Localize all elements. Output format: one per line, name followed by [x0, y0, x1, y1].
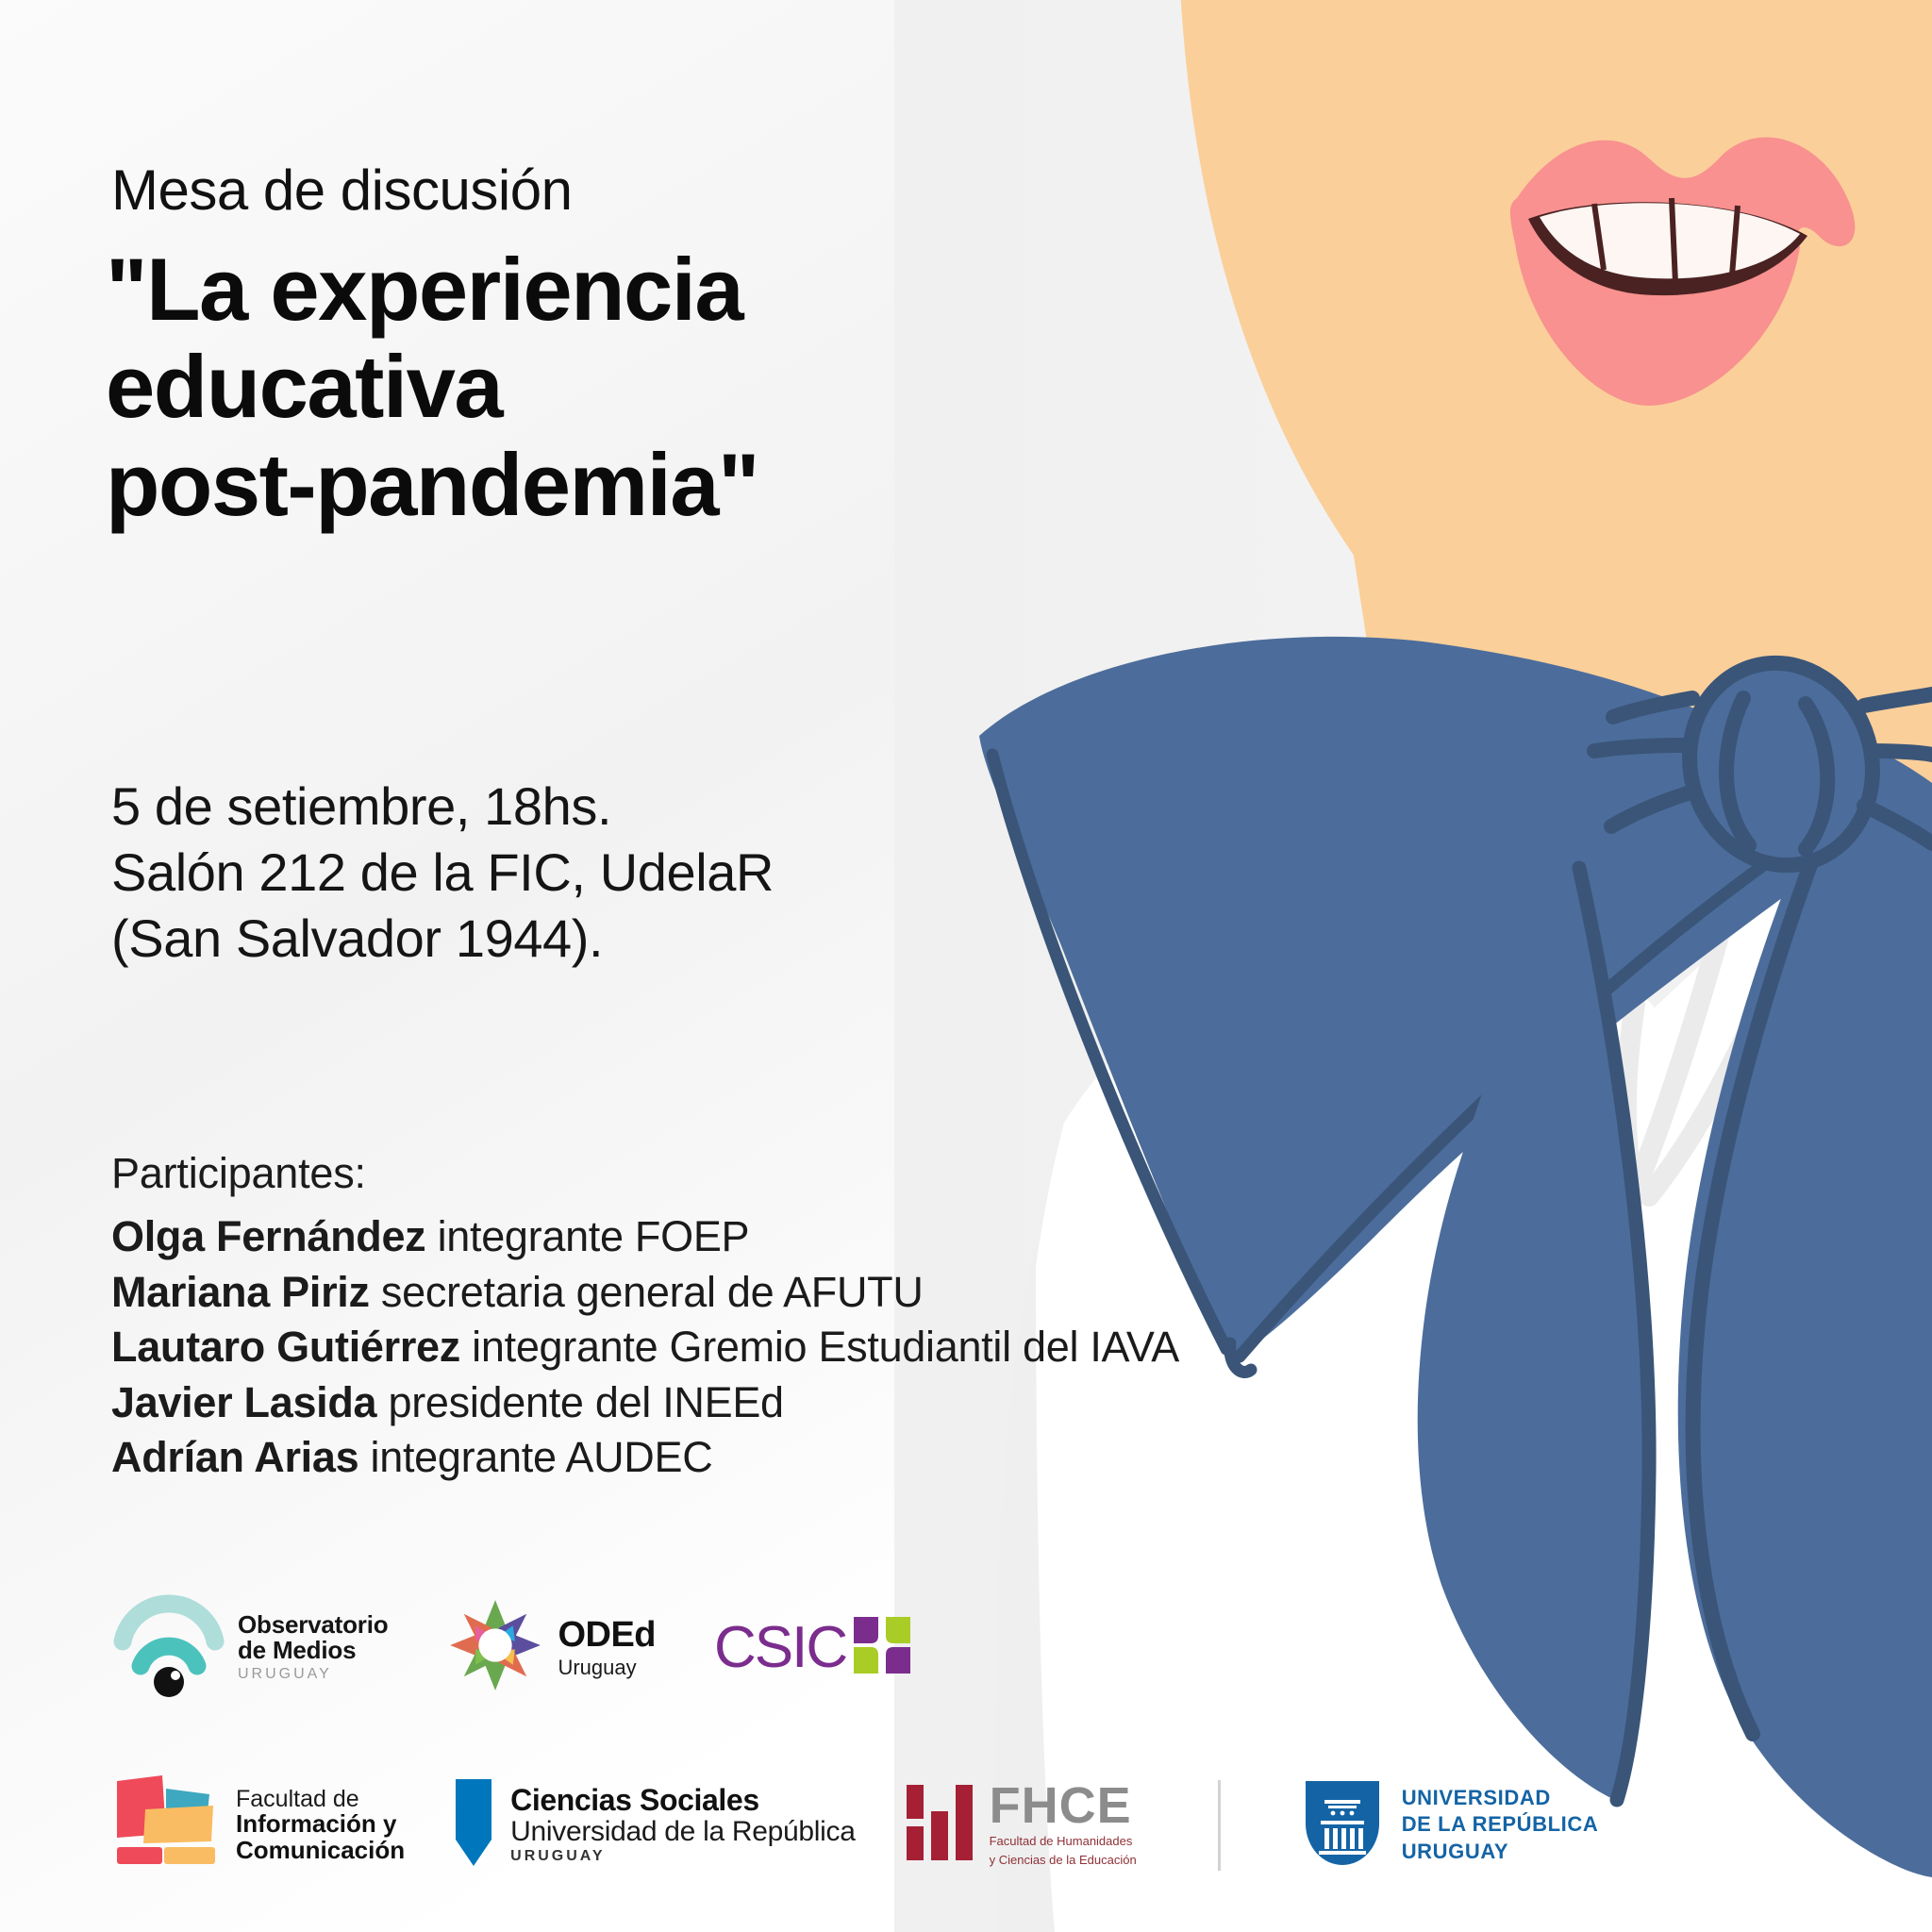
headline-line-2: educativa [106, 338, 955, 435]
oded-line-1: ODEd [558, 1617, 656, 1655]
logo-fic: Facultad de Información y Comunicación [111, 1774, 405, 1876]
fic-books-icon [111, 1774, 223, 1876]
observatorio-wifi-eye-icon [113, 1592, 225, 1703]
logo-fhce-text: FHCE Facultad de Humanidades y Ciencias … [990, 1782, 1137, 1869]
event-address: (San Salvador 1944). [111, 906, 774, 972]
list-item: Lautaro Gutiérrez integrante Gremio Estu… [111, 1320, 1179, 1375]
participant-name: Mariana Piriz [111, 1268, 370, 1316]
participants-list: Olga Fernández integrante FOEP Mariana P… [111, 1209, 1179, 1486]
fhce-sub-2: y Ciencias de la Educación [990, 1853, 1137, 1868]
participant-name: Lautaro Gutiérrez [111, 1323, 460, 1371]
mouth-shape [1510, 138, 1855, 406]
udelar-shield-icon [1302, 1777, 1383, 1873]
logo-fhce: FHCE Facultad de Humanidades y Ciencias … [905, 1782, 1137, 1869]
fic-line-1: Facultad de [236, 1787, 405, 1811]
participant-role: presidente del INEEd [376, 1378, 783, 1426]
list-item: Mariana Piriz secretaria general de AFUT… [111, 1265, 1179, 1321]
observatorio-line-2: de Medios [238, 1638, 388, 1663]
face-shape [1177, 0, 1932, 1113]
udelar-line-3: URUGUAY [1402, 1839, 1599, 1865]
ciencias-sociales-flag-icon [454, 1777, 493, 1873]
logo-udelar: UNIVERSIDAD DE LA REPÚBLICA URUGUAY [1302, 1777, 1599, 1873]
fhce-sub-1: Facultad de Humanidades [990, 1834, 1137, 1849]
logo-csic: CSIC [714, 1615, 912, 1680]
student-illustration [894, 0, 1932, 1932]
kicker-line: Mesa de discusión [111, 162, 572, 219]
logo-udelar-text: UNIVERSIDAD DE LA REPÚBLICA URUGUAY [1402, 1785, 1599, 1864]
logo-observatorio-text: Observatorio de Medios URUGUAY [238, 1612, 388, 1683]
event-details: 5 de setiembre, 18hs. Salón 212 de la FI… [111, 774, 774, 972]
udelar-line-2: DE LA REPÚBLICA [1402, 1811, 1599, 1838]
ciencias-line-2: Universidad de la República [510, 1817, 855, 1847]
participant-role: secretaria general de AFUTU [370, 1268, 924, 1316]
observatorio-line-1: Observatorio [238, 1612, 388, 1638]
logo-divider [1218, 1780, 1221, 1871]
event-venue: Salón 212 de la FIC, UdelaR [111, 840, 774, 906]
fhce-acronym: FHCE [990, 1782, 1137, 1830]
list-item: Javier Lasida presidente del INEEd [111, 1375, 1179, 1431]
logo-ciencias-sociales: Ciencias Sociales Universidad de la Repú… [454, 1777, 855, 1873]
scarf-knot [1594, 641, 1932, 888]
sponsor-logos-row-top: Observatorio de Medios URUGUAY [113, 1592, 912, 1703]
participant-role: integrante FOEP [425, 1212, 749, 1260]
headline-line-1: "La experiencia [106, 241, 955, 338]
participant-name: Adrían Arias [111, 1433, 358, 1481]
logo-oded: ODEd Uruguay [446, 1596, 656, 1699]
oded-star-icon [446, 1596, 544, 1699]
ciencias-line-3: URUGUAY [510, 1849, 855, 1865]
participant-name: Javier Lasida [111, 1378, 376, 1426]
participant-role: integrante AUDEC [358, 1433, 712, 1481]
list-item: Olga Fernández integrante FOEP [111, 1209, 1179, 1265]
logo-oded-text: ODEd Uruguay [558, 1617, 656, 1678]
shirt-fold-lines [1626, 852, 1824, 1198]
logo-ciencias-sociales-text: Ciencias Sociales Universidad de la Repú… [510, 1785, 855, 1865]
event-datetime: 5 de setiembre, 18hs. [111, 774, 774, 840]
list-item: Adrían Arias integrante AUDEC [111, 1430, 1179, 1486]
oded-line-2: Uruguay [558, 1657, 656, 1678]
logo-fic-text: Facultad de Información y Comunicación [236, 1787, 405, 1863]
logo-observatorio-de-medios: Observatorio de Medios URUGUAY [113, 1592, 388, 1703]
fic-line-2: Información y [236, 1811, 405, 1837]
participants-label: Participantes: [111, 1149, 366, 1198]
headline-line-3: post-pandemia" [106, 436, 955, 533]
observatorio-line-3: URUGUAY [238, 1667, 388, 1683]
poster-canvas: Mesa de discusión "La experiencia educat… [0, 0, 1932, 1932]
participant-name: Olga Fernández [111, 1212, 425, 1260]
participant-role: integrante Gremio Estudiantil del IAVA [460, 1323, 1179, 1371]
fhce-h-icon [905, 1783, 974, 1867]
udelar-line-1: UNIVERSIDAD [1402, 1785, 1599, 1811]
csic-wordmark: CSIC [714, 1619, 846, 1677]
page-title: "La experiencia educativa post-pandemia" [106, 241, 955, 533]
sponsor-logos-row-bottom: Facultad de Información y Comunicación C… [111, 1774, 1598, 1876]
csic-squares-icon [852, 1615, 912, 1680]
fic-line-3: Comunicación [236, 1838, 405, 1863]
ciencias-line-1: Ciencias Sociales [510, 1785, 855, 1817]
